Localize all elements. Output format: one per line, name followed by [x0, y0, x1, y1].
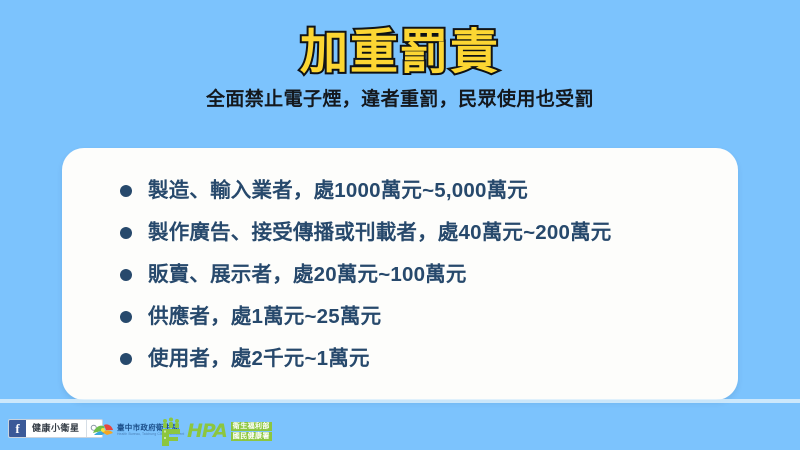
facebook-page-badge[interactable]: f 健康小衛星	[8, 419, 103, 438]
facebook-icon: f	[9, 420, 26, 437]
penalty-text: 製造、輸入業者，處1000萬元~5,000萬元	[148, 179, 528, 204]
page-subtitle: 全面禁止電子煙，違者重罰，民眾使用也受罰	[0, 88, 800, 112]
slide-canvas: 加重罰責 全面禁止電子煙，違者重罰，民眾使用也受罰 製造、輸入業者，處1000萬…	[0, 0, 800, 450]
penalty-text: 販賣、展示者，處20萬元~100萬元	[148, 263, 467, 288]
bullet-dot-icon	[120, 227, 132, 239]
list-item: 使用者，處2千元~1萬元	[120, 338, 722, 380]
penalty-text: 製作廣告、接受傳播或刊載者，處40萬元~200萬元	[148, 221, 611, 246]
bullet-dot-icon	[120, 185, 132, 197]
hpa-administration-name: 國民健康署	[231, 432, 272, 441]
hpa-ministry-name: 衛生福利部	[231, 422, 272, 431]
penalty-text: 使用者，處2千元~1萬元	[148, 347, 370, 372]
page-title: 加重罰責	[0, 26, 800, 80]
bullet-dot-icon	[120, 311, 132, 323]
bullet-dot-icon	[120, 353, 132, 365]
hpa-emblem-icon	[158, 417, 186, 446]
penalty-list: 製造、輸入業者，處1000萬元~5,000萬元 製作廣告、接受傳播或刊載者，處4…	[120, 170, 722, 380]
hpa-agency-name: 衛生福利部 國民健康署	[231, 422, 272, 441]
list-item: 製造、輸入業者，處1000萬元~5,000萬元	[120, 170, 722, 212]
list-item: 販賣、展示者，處20萬元~100萬元	[120, 254, 722, 296]
bullet-dot-icon	[120, 269, 132, 281]
hpa-wordmark: HPA	[187, 422, 227, 441]
penalty-text: 供應者，處1萬元~25萬元	[148, 305, 381, 330]
list-item: 供應者，處1萬元~25萬元	[120, 296, 722, 338]
facebook-page-name: 健康小衛星	[26, 420, 86, 437]
list-item: 製作廣告、接受傳播或刊載者，處40萬元~200萬元	[120, 212, 722, 254]
footer-logo-strip: f 健康小衛星 臺中市政府衛生局	[0, 410, 800, 450]
card-base-band	[0, 399, 800, 403]
hpa-logo: HPA 衛生福利部 國民健康署	[158, 416, 272, 446]
taichung-emblem-icon	[92, 422, 114, 438]
title-block: 加重罰責 全面禁止電子煙，違者重罰，民眾使用也受罰	[0, 26, 800, 112]
penalty-card: 製造、輸入業者，處1000萬元~5,000萬元 製作廣告、接受傳播或刊載者，處4…	[62, 148, 738, 400]
